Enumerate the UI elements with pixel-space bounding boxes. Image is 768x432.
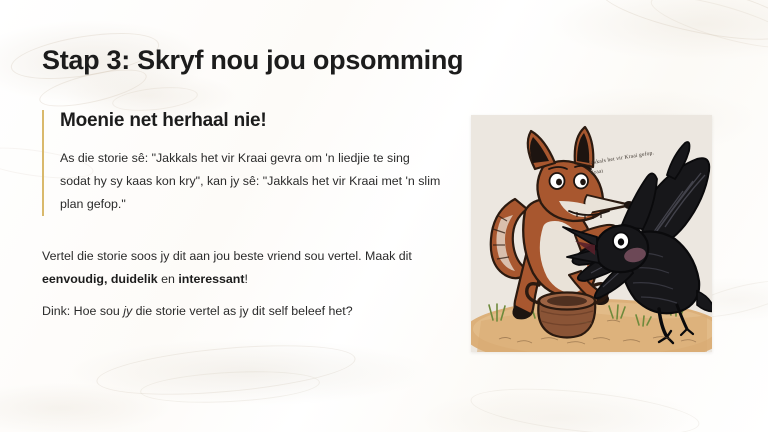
instruction-paragraph: Vertel die storie soos jy dit aan jou be…: [42, 245, 442, 291]
paragraph-mid: en: [158, 272, 179, 286]
decorative-swirl: [469, 380, 702, 432]
illustration-artwork: [471, 115, 712, 352]
page-title: Stap 3: Skryf nou jou opsomming: [42, 45, 463, 76]
emphasis-jy: jy: [123, 304, 132, 318]
jackal-and-crow-illustration: Jakkals het vir Kraai gefop. Kraai: [471, 115, 712, 352]
emphasis-eenvoudig-duidelik: eenvoudig, duidelik: [42, 272, 158, 286]
callout-heading: Moenie net herhaal nie!: [60, 110, 442, 132]
reflection-tail: die storie vertel as jy dit self beleef …: [132, 304, 352, 318]
reflection-lead: Dink: Hoe sou: [42, 304, 123, 318]
callout-body-text: As die storie sê: "Jakkals het vir Kraai…: [60, 147, 442, 216]
emphasis-interessant: interessant: [178, 272, 244, 286]
paragraph-lead: Vertel die storie soos jy dit aan jou be…: [42, 249, 412, 263]
callout-block: Moenie net herhaal nie! As die storie sê…: [42, 110, 442, 216]
paragraph-tail: !: [244, 272, 247, 286]
reflection-paragraph: Dink: Hoe sou jy die storie vertel as jy…: [42, 300, 442, 323]
slide-canvas: Stap 3: Skryf nou jou opsomming Moenie n…: [0, 0, 768, 432]
